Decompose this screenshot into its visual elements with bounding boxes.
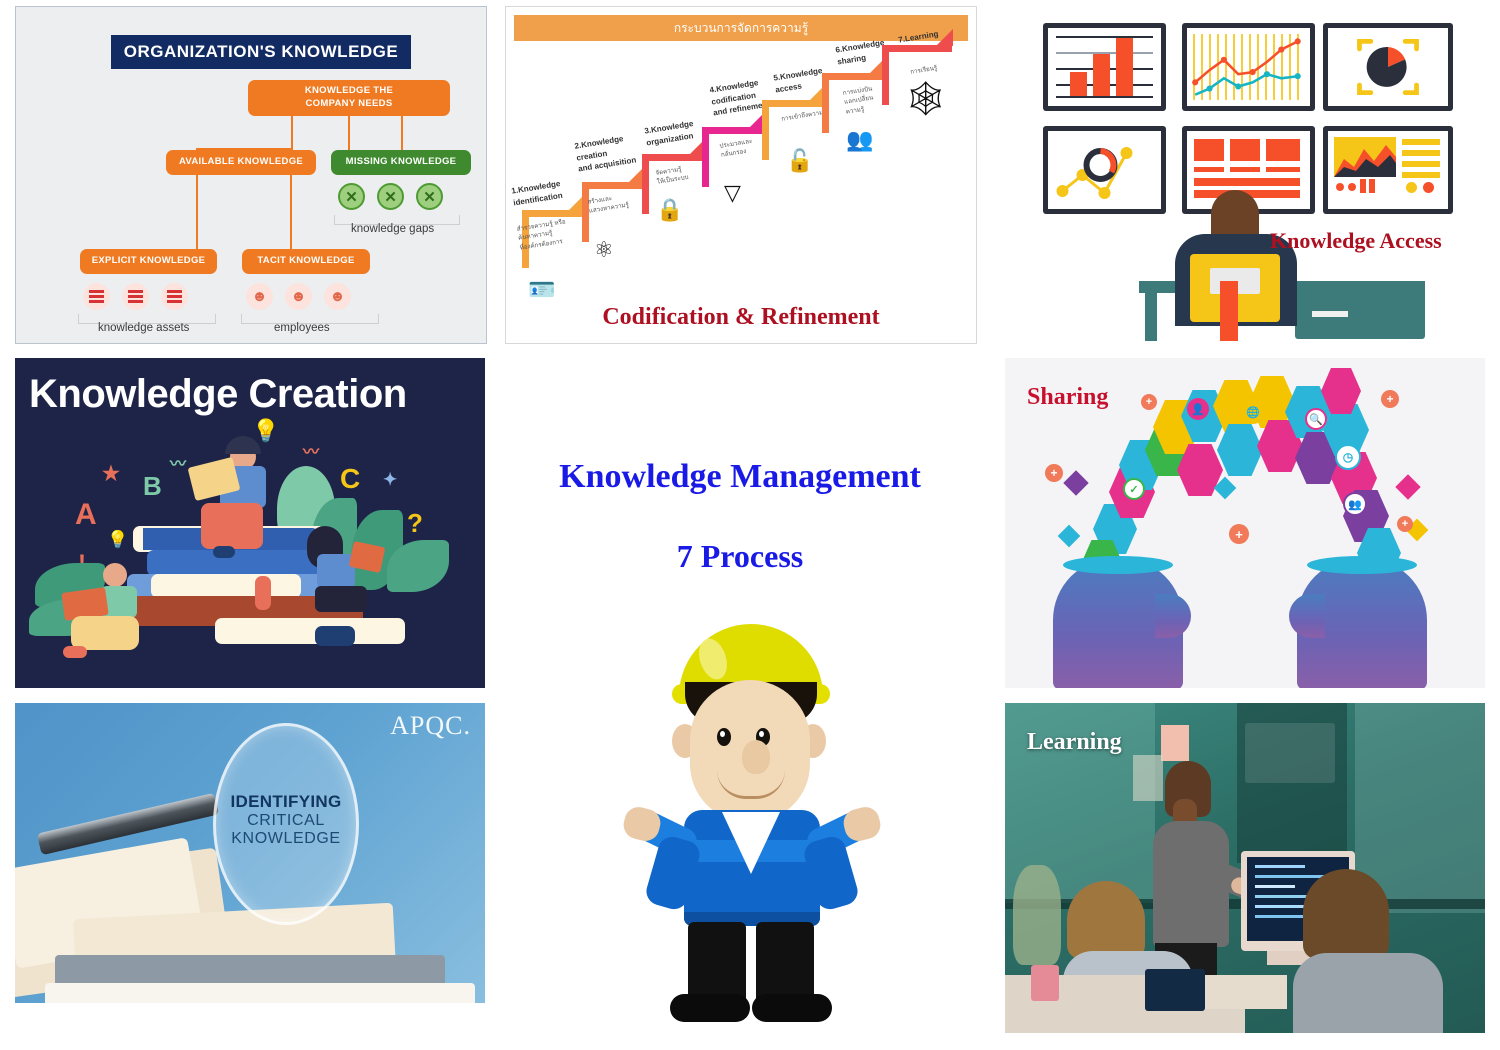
star-icon: ★ [102, 461, 120, 486]
learner-right-head [1303, 869, 1389, 959]
knowledge-asset-icons [83, 283, 188, 310]
face-icon: ☻ [324, 283, 351, 310]
line-chart-icon [1187, 28, 1310, 106]
code-line [1255, 875, 1325, 878]
open-head-left [1063, 556, 1173, 574]
bookmark-icon [255, 576, 271, 610]
eye-right-glint [759, 731, 764, 737]
plus-badge-icon: + [1381, 390, 1399, 408]
reader-shoe-icon [63, 646, 87, 658]
people-document-icon: 👥 [846, 129, 873, 151]
document-lines-icon [83, 283, 110, 310]
caption-employees: employees [274, 322, 330, 334]
step-label-th: การเข้าถึงความรู้ [781, 105, 844, 124]
check-badge-icon: ✓ [1123, 478, 1145, 500]
globe-badge-icon: 🌐 [1241, 400, 1265, 424]
step-label-th: การเรียนรู้ [910, 58, 973, 77]
desk-leg [1145, 293, 1157, 341]
caption-codification-refinement: Codification & Refinement [506, 304, 976, 331]
plus-badge-icon: + [1397, 516, 1413, 532]
chair-back-icon [1220, 281, 1238, 341]
book-bottom-pages [15, 1003, 485, 1033]
book-icon [315, 626, 355, 646]
step-riser [642, 154, 649, 214]
caption-sharing: Sharing [1027, 384, 1108, 411]
worker-mascot-shrugging [600, 612, 900, 1027]
box-missing-knowledge: MISSING KNOWLEDGE [331, 150, 471, 175]
gap-x-icon: ✕ [416, 183, 443, 210]
connector-need-right [401, 116, 403, 150]
panel-thai-km-process: กระบวนการจัดการความรู้ 1.Knowledgeidenti… [505, 6, 977, 344]
book-pages [151, 574, 301, 598]
shelf-items [1245, 723, 1335, 783]
box-explicit-knowledge: EXPLICIT KNOWLEDGE [80, 249, 217, 274]
employee-icons: ☻ ☻ ☻ [246, 283, 351, 310]
code-line [1255, 885, 1295, 888]
box-tacit-knowledge: TACIT KNOWLEDGE [242, 249, 370, 274]
diamond-tile [1058, 525, 1081, 548]
panel-learning: Learning [1005, 703, 1485, 1033]
step-riser [762, 100, 769, 160]
pie-target-icon [1328, 28, 1448, 106]
monitor-bar-chart [1043, 23, 1166, 111]
people-badge-icon: 👥 [1343, 492, 1367, 516]
code-line [1255, 865, 1305, 868]
caption-knowledge-access: Knowledge Access [1270, 228, 1442, 254]
magnifier-handle-icon [37, 793, 219, 855]
step-tread [582, 182, 642, 189]
learner-left-head [1067, 881, 1145, 959]
document-lines-icon [161, 283, 188, 310]
network-lock-icon: 🔒 [656, 199, 683, 221]
reader-legs-icon [201, 503, 263, 549]
shoe-left-icon [670, 994, 750, 1022]
area-chart-list-icon [1328, 131, 1448, 209]
plus-badge-icon: + [1045, 464, 1063, 482]
open-padlock-icon: 🔓 [786, 150, 813, 172]
lens-line-knowledge: KNOWLEDGE [216, 830, 356, 848]
lens-text-block: IDENTIFYING CRITICAL KNOWLEDGE [216, 792, 356, 848]
step-tread [882, 45, 952, 52]
gap-x-icon: ✕ [338, 183, 365, 210]
diamond-tile [1063, 470, 1088, 495]
lightbulb-small-icon: 💡 [107, 530, 128, 550]
caption-learning: Learning [1027, 729, 1122, 756]
step-label-th: จัดความรู้ให้เป็นระบบ [655, 159, 719, 187]
step-label-th: การแบ่งปันแลกเปลี่ยนความรู้ [842, 79, 908, 116]
step-label-th: ประมวลและกลั่นกรอง [719, 132, 783, 160]
reader-shoe-icon [213, 546, 235, 558]
user-badge-icon: 👤 [1187, 398, 1209, 420]
connector-avail-explicit [196, 175, 198, 249]
eye-left-glint [720, 731, 725, 737]
letter-a-icon: A [75, 498, 97, 532]
letter-b-icon: B [143, 471, 162, 502]
scatter-donut-icon [1048, 131, 1161, 209]
papers-on-desk [1205, 975, 1287, 1009]
step-tread [822, 73, 882, 80]
caption-knowledge-gaps: knowledge gaps [351, 223, 434, 235]
connector-need-left [291, 116, 293, 150]
hex-tile [1217, 424, 1263, 476]
box-available-knowledge: AVAILABLE KNOWLEDGE [166, 150, 316, 175]
code-line [1255, 905, 1309, 908]
plant-icon [1013, 865, 1061, 965]
box-knowledge-the-company-needs: KNOWLEDGE THECOMPANY NEEDS [248, 80, 450, 116]
magnifier-lens-icon: IDENTIFYING CRITICAL KNOWLEDGE [213, 723, 359, 925]
panel-knowledge-access: Knowledge Access [1005, 6, 1485, 342]
panel-identifying-critical-knowledge: APQC. IDENTIFYING CRITICAL KNOWLEDGE [15, 703, 485, 1033]
lens-line-critical: CRITICAL [216, 812, 356, 830]
reader-head-icon [103, 563, 127, 587]
document-lines-icon [122, 283, 149, 310]
monitor-scatter-donut [1043, 126, 1166, 214]
reader-legs-icon [315, 586, 367, 612]
panel-organizations-knowledge: ORGANIZATION'S KNOWLEDGE KNOWLEDGE THECO… [15, 6, 487, 344]
plus-badge-icon: + [1229, 524, 1249, 544]
panel-knowledge-creation: Knowledge Creation A B C ? ! ★ ✦ 💡 💡 〰 〰 [15, 358, 485, 688]
monitor-area-chart-list [1323, 126, 1453, 214]
step-tread [642, 154, 702, 161]
pen-cup [1031, 965, 1059, 1001]
paper-sheet [1133, 755, 1163, 801]
question-mark-icon: ? [407, 508, 423, 539]
apqc-logo: APQC. [390, 711, 471, 741]
squiggle-icon: 〰 [170, 450, 186, 474]
letter-c-icon: C [340, 463, 360, 495]
face-icon: ☻ [285, 283, 312, 310]
connector-avail-tacit [290, 175, 292, 249]
brain-network-icon: 🕸 [904, 83, 947, 117]
id-card-search-icon: 🪪 [528, 279, 555, 301]
leg-left-icon [688, 922, 746, 1004]
connector-need-avail-v [348, 116, 350, 150]
sticky-note [1161, 725, 1189, 761]
face-icon: ☻ [246, 283, 273, 310]
bar-chart-icon [1048, 28, 1161, 106]
knowledge-gap-marks: ✕ ✕ ✕ [338, 183, 443, 210]
caption-knowledge-assets: knowledge assets [98, 322, 189, 334]
step-riser [582, 182, 589, 242]
clock-badge-icon: ◷ [1335, 444, 1361, 470]
star-small-icon: ✦ [383, 470, 397, 490]
org-title-banner: ORGANIZATION'S KNOWLEDGE [111, 35, 411, 69]
step-tread [762, 100, 822, 107]
laptop-screen-foreground [1145, 969, 1205, 1011]
step-tread [702, 127, 762, 134]
step-riser [882, 45, 889, 105]
lightbulb-icon: 💡 [252, 418, 279, 444]
desk-drawer [1295, 281, 1425, 339]
gap-x-icon: ✕ [377, 183, 404, 210]
page-title: Knowledge Management [505, 460, 975, 494]
plus-badge-icon: + [1141, 394, 1157, 410]
org-diagram-canvas: ORGANIZATION'S KNOWLEDGE KNOWLEDGE THECO… [26, 17, 476, 333]
shoe-right-icon [752, 994, 832, 1022]
panel-knowledge-sharing: Sharing + + + + + 👤 🌐 ◷ 👥 🔍 ✓ [1005, 358, 1485, 688]
diamond-tile [1395, 474, 1420, 499]
leg-right-icon [756, 922, 814, 1004]
box-label: KNOWLEDGE THECOMPANY NEEDS [305, 85, 393, 111]
drawer-handle-icon [1312, 311, 1348, 317]
book-icon [215, 618, 405, 644]
hands-atom-icon: ⚛ [594, 239, 614, 261]
lens-line-identifying: IDENTIFYING [216, 792, 356, 812]
funnel-filter-icon: ▽ [724, 182, 741, 204]
step-riser [822, 73, 829, 133]
page-subtitle: 7 Process [505, 538, 975, 575]
squiggle-icon: 〰 [303, 438, 319, 462]
monitor-pie-target [1323, 23, 1453, 111]
step-riser [702, 127, 709, 187]
learner-right-body [1293, 953, 1443, 1033]
nose-right [1289, 594, 1325, 638]
open-head-right [1307, 556, 1417, 574]
search-badge-icon: 🔍 [1305, 408, 1327, 430]
nose-left [1155, 594, 1191, 638]
nose-icon [742, 740, 770, 774]
monitor-line-chart [1182, 23, 1315, 111]
knowledge-creation-title: Knowledge Creation [29, 372, 407, 417]
reader-legs-icon [71, 616, 139, 650]
